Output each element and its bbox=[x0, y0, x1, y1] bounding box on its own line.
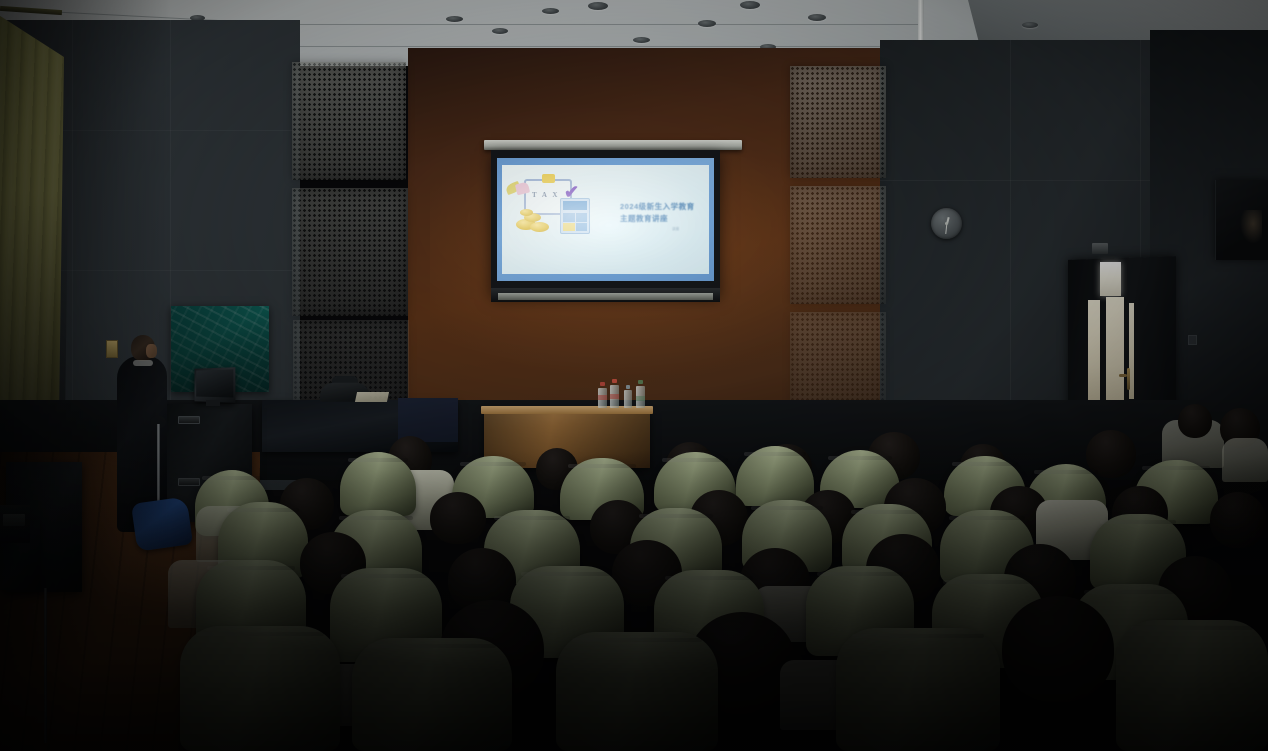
blue-bag bbox=[131, 496, 193, 551]
slide-title-line2: 主题教育讲座 bbox=[620, 213, 706, 224]
paper-sheet bbox=[355, 392, 389, 402]
slide-title-line1: 2024级新生入学教育 bbox=[620, 201, 706, 212]
screen-housing bbox=[484, 140, 742, 150]
slide-subtitle: 讲座 bbox=[672, 227, 679, 232]
ceiling-seam bbox=[300, 46, 960, 47]
wall-outlet-plate bbox=[106, 340, 118, 358]
door-handle[interactable] bbox=[1127, 368, 1130, 390]
monitor-stand bbox=[206, 400, 220, 406]
audience-head bbox=[1210, 492, 1266, 548]
audience-head bbox=[1178, 404, 1212, 438]
downlight-icon bbox=[740, 1, 760, 9]
downlight-icon bbox=[542, 8, 559, 14]
presentation-slide: T A X ✔ 2024级新生入学教育 bbox=[502, 165, 709, 274]
exit-sign bbox=[1092, 243, 1108, 254]
ceiling-seam bbox=[300, 24, 920, 25]
coins-icon bbox=[514, 209, 550, 233]
acoustic-panel bbox=[292, 188, 408, 316]
door-handle-grip[interactable] bbox=[1119, 374, 1127, 377]
window-curtain[interactable] bbox=[0, 12, 64, 462]
audience-shirt bbox=[1222, 438, 1268, 482]
calculator-icon bbox=[560, 198, 590, 234]
clipboard-clip-icon bbox=[542, 174, 555, 183]
acoustic-panel bbox=[790, 312, 886, 408]
audience-head bbox=[1002, 596, 1114, 702]
slide-clipboard-text: T A X bbox=[532, 191, 559, 199]
screen-surface: T A X ✔ 2024级新生入学教育 bbox=[497, 158, 714, 281]
presenter-collar bbox=[133, 360, 153, 366]
light-switch[interactable] bbox=[1188, 335, 1197, 345]
auditorium-seat[interactable] bbox=[180, 626, 340, 751]
downlight-icon bbox=[698, 20, 716, 27]
wall-clock bbox=[931, 208, 962, 239]
amplifier-front-panel bbox=[3, 514, 25, 526]
auditorium-seat[interactable] bbox=[736, 446, 814, 506]
auditorium-seat[interactable] bbox=[1116, 620, 1268, 751]
auditorium-photo: T A X ✔ 2024级新生入学教育 bbox=[0, 0, 1268, 751]
auditorium-seat[interactable] bbox=[836, 628, 1000, 751]
confidence-monitor bbox=[194, 367, 235, 403]
speaker-stand-pole bbox=[44, 588, 47, 743]
clock-minute-hand bbox=[945, 224, 947, 234]
auditorium-seat[interactable] bbox=[340, 452, 416, 516]
downlight-icon bbox=[1022, 22, 1038, 28]
acoustic-panel bbox=[790, 186, 886, 304]
projection-screen: T A X ✔ 2024级新生入学教育 bbox=[491, 150, 720, 295]
water-bottle bbox=[624, 385, 632, 408]
downlight-icon bbox=[633, 37, 650, 43]
downlight-icon bbox=[492, 28, 508, 34]
audience-head bbox=[430, 492, 486, 544]
acoustic-panel bbox=[292, 62, 406, 180]
downlight-icon bbox=[588, 2, 608, 10]
downlight-icon bbox=[446, 16, 463, 22]
clock-center-pin bbox=[945, 222, 948, 225]
auditorium-seat[interactable] bbox=[556, 632, 718, 751]
acoustic-panel bbox=[790, 66, 886, 178]
water-bottle bbox=[636, 380, 645, 408]
water-bottle bbox=[610, 379, 619, 408]
water-bottle bbox=[598, 382, 607, 408]
door-transom-window bbox=[1100, 262, 1121, 296]
wall-panel-glint bbox=[1240, 210, 1262, 244]
presenter-face bbox=[146, 344, 157, 358]
screen-weight-bar bbox=[498, 293, 713, 300]
downlight-icon bbox=[808, 14, 826, 21]
auditorium-seat[interactable] bbox=[352, 638, 512, 751]
